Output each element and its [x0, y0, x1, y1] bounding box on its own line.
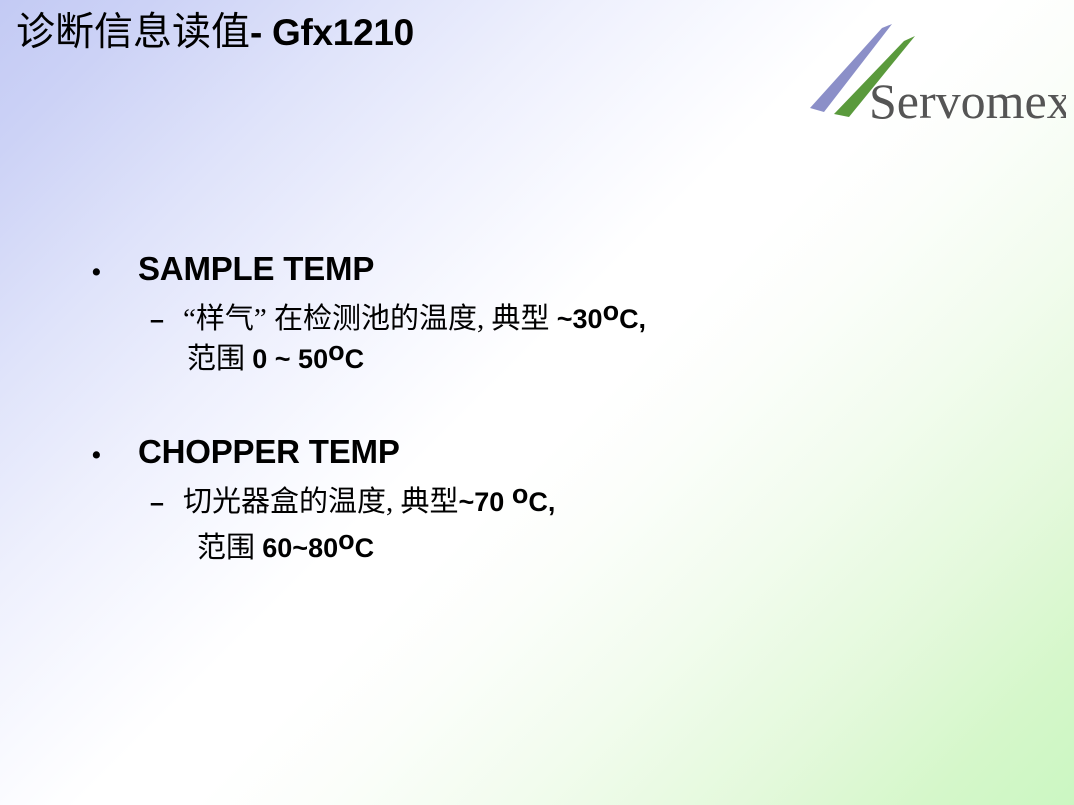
chopper-temp-typical-value: ~70: [459, 487, 512, 517]
bullet-sample-temp: • SAMPLE TEMP: [92, 248, 972, 293]
degree-sign-icon: o: [603, 296, 620, 326]
sample-temp-typical-unit: C,: [619, 304, 646, 334]
bullet-dot-icon: •: [92, 434, 138, 476]
bullet-chopper-temp: • CHOPPER TEMP: [92, 431, 972, 476]
chopper-temp-range-label: 范围: [197, 532, 262, 564]
bullet-dot-icon: •: [92, 251, 138, 293]
page-title-model: - Gfx1210: [250, 12, 414, 53]
degree-sign-icon: o: [512, 479, 529, 509]
chopper-temp-desc: 切光器盒的温度, 典型: [183, 486, 459, 518]
subbullet-chopper-temp-text: 切光器盒的温度, 典型~70 oC, 范围 60~80oC: [183, 482, 972, 568]
logo-wordmark: Servomex: [869, 73, 1066, 129]
slide-body: • SAMPLE TEMP – “样气” 在检测池的温度, 典型 ~30oC, …: [92, 248, 972, 568]
subbullet-chopper-temp: – 切光器盒的温度, 典型~70 oC, 范围 60~80oC: [92, 482, 972, 568]
page-title: 诊断信息读值- Gfx1210: [16, 8, 776, 58]
page-title-chinese: 诊断信息读值: [16, 11, 250, 54]
bullet-block-sample-temp: • SAMPLE TEMP – “样气” 在检测池的温度, 典型 ~30oC, …: [92, 248, 972, 379]
subbullet-sample-temp-text: “样气” 在检测池的温度, 典型 ~30oC, 范围 0 ~ 50oC: [183, 299, 972, 379]
slide-canvas: 诊断信息读值- Gfx1210 Servomex • SAMPLE TEMP –…: [0, 0, 1074, 805]
subbullet-dash-icon: –: [92, 300, 183, 340]
chopper-temp-typical-unit: C,: [528, 487, 555, 517]
bullet-sample-temp-label: SAMPLE TEMP: [138, 248, 972, 290]
chopper-temp-range-unit: C: [355, 533, 375, 563]
subbullet-sample-temp: – “样气” 在检测池的温度, 典型 ~30oC, 范围 0 ~ 50oC: [92, 299, 972, 379]
servomex-logo: Servomex: [796, 22, 1066, 134]
degree-sign-icon: o: [328, 336, 345, 366]
sample-temp-desc: “样气” 在检测池的温度, 典型: [183, 303, 557, 335]
sample-temp-range-unit: C: [345, 344, 365, 374]
bullet-block-chopper-temp: • CHOPPER TEMP – 切光器盒的温度, 典型~70 oC, 范围 6…: [92, 431, 972, 568]
sample-temp-range-value: 0 ~ 50: [252, 344, 328, 374]
chopper-temp-range-value: 60~80: [262, 533, 338, 563]
sample-temp-range-label: 范围: [187, 343, 252, 375]
subbullet-dash-icon: –: [92, 483, 183, 523]
bullet-chopper-temp-label: CHOPPER TEMP: [138, 431, 972, 473]
degree-sign-icon: o: [338, 525, 355, 555]
sample-temp-typical-value: ~30: [557, 304, 603, 334]
